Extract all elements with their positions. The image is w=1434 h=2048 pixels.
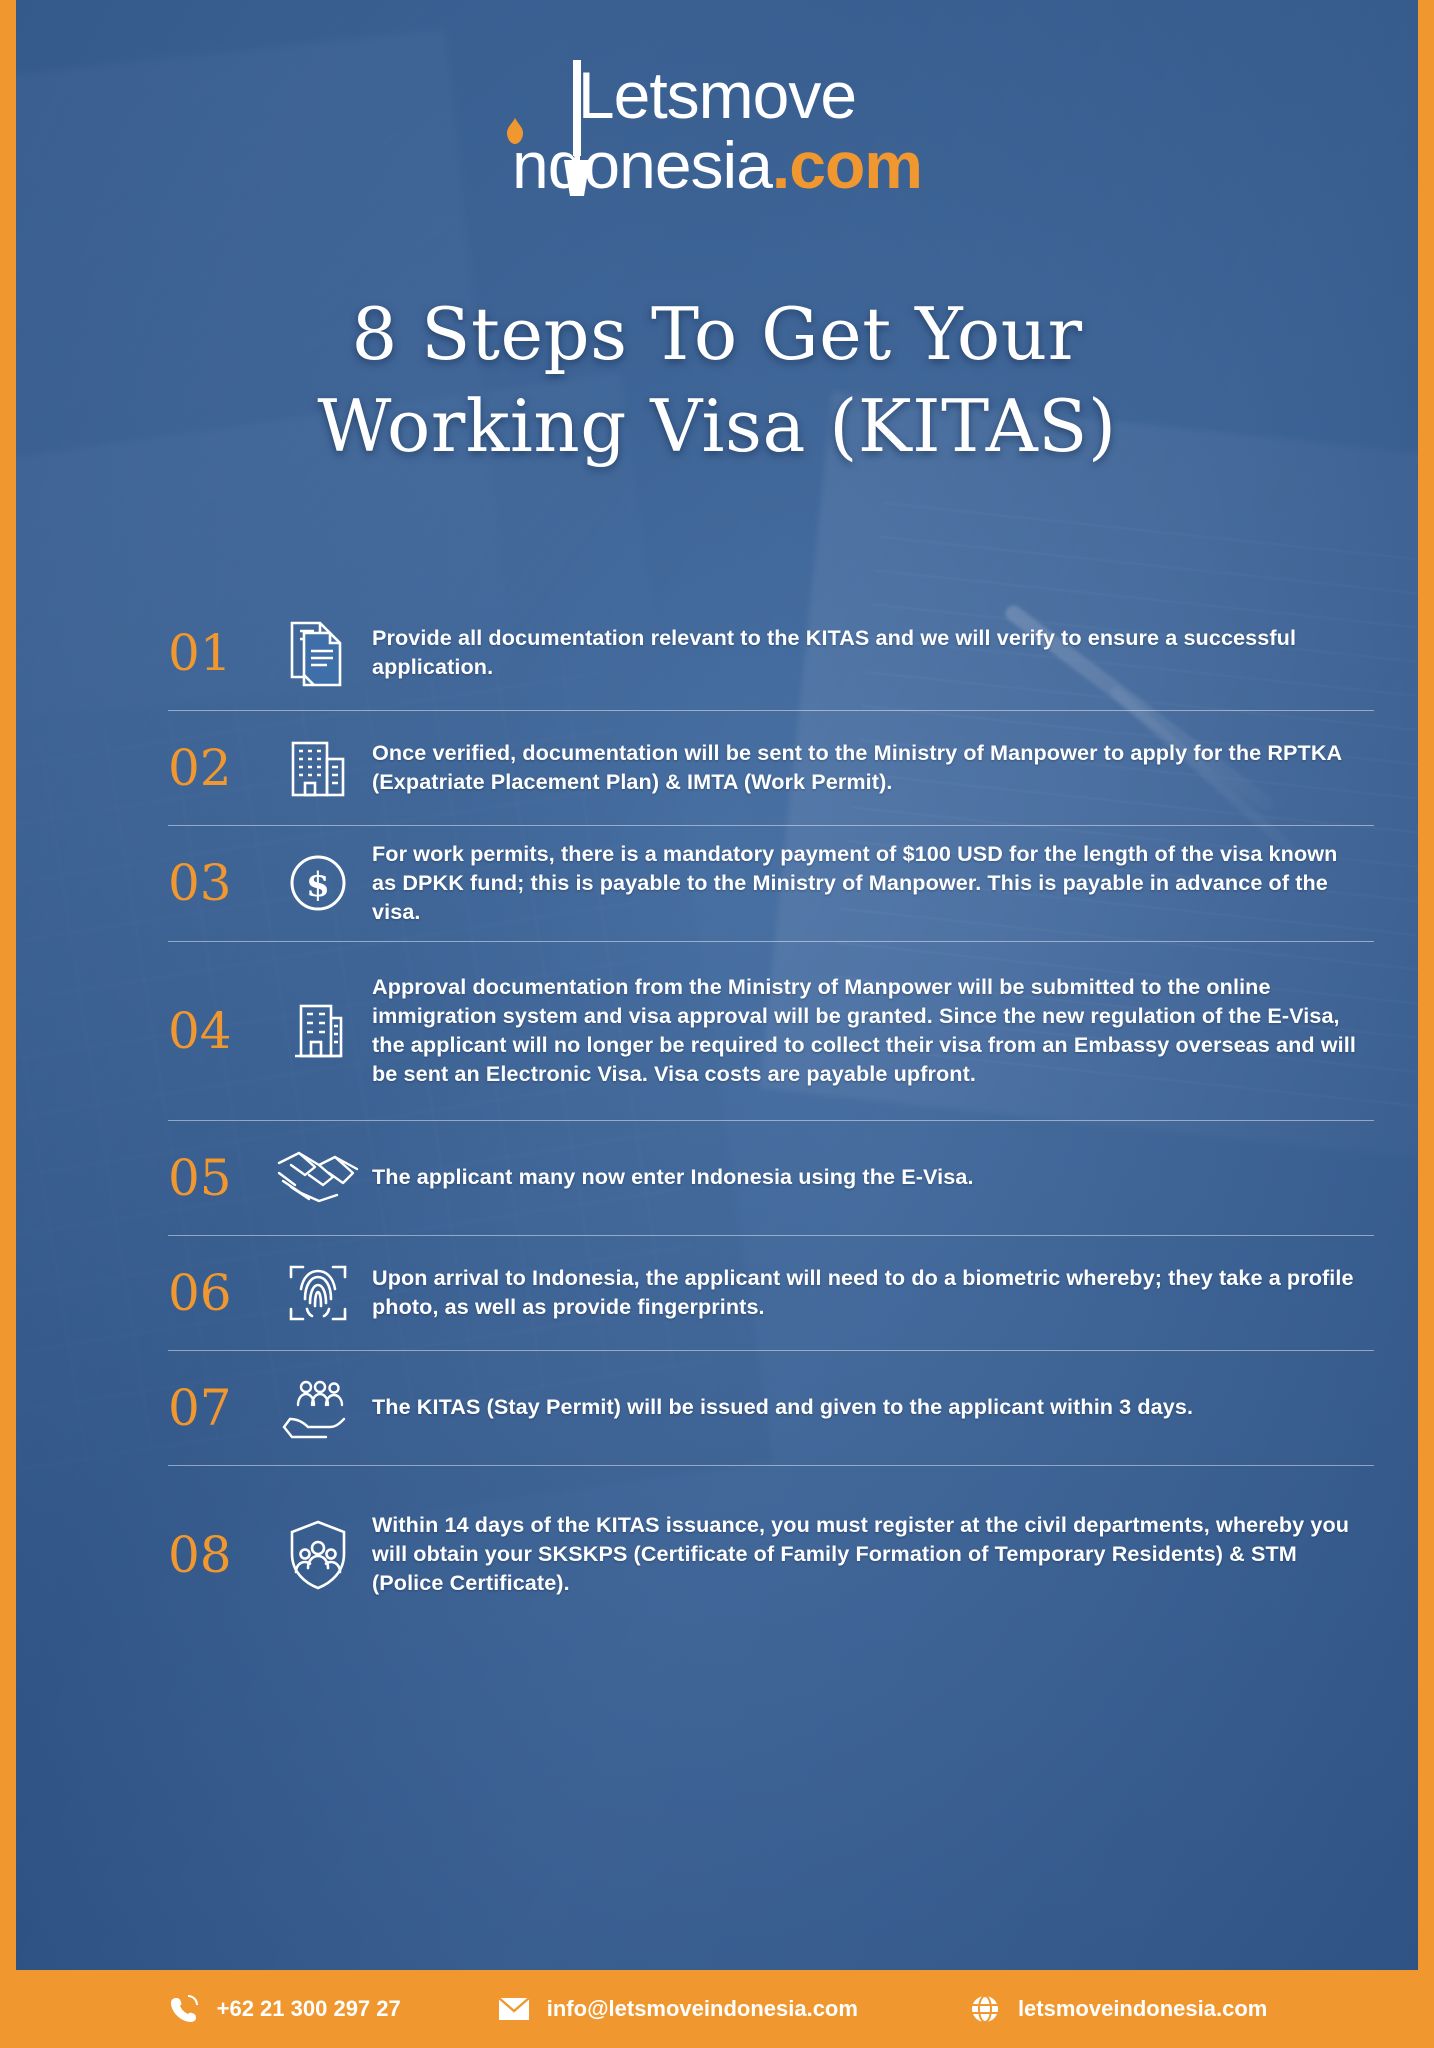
- footer-phone-text: +62 21 300 297 27: [217, 1996, 401, 2022]
- brand-logo: Letsmove ndonesia.com: [0, 62, 1434, 198]
- footer-email-text: info@letsmoveindonesia.com: [547, 1996, 858, 2022]
- svg-text:$: $: [306, 865, 330, 905]
- logo-text-letsmove: Letsmove: [578, 58, 856, 132]
- step-number: 04: [168, 1006, 264, 1056]
- footer-phone[interactable]: +62 21 300 297 27: [167, 1992, 401, 2026]
- step-item-08: 08 Within 14 days of the KITAS issuance,…: [168, 1466, 1374, 1644]
- step-number: 05: [168, 1153, 264, 1203]
- government-building-icon: [264, 996, 372, 1066]
- phone-icon: [167, 1992, 201, 2026]
- step-text: For work permits, there is a mandatory p…: [372, 840, 1374, 927]
- documents-icon: [264, 617, 372, 689]
- page-title-line1: 8 Steps To Get Your: [351, 292, 1082, 376]
- step-item-03: 03 $ For work permits, there is a mandat…: [168, 826, 1374, 942]
- step-text: Upon arrival to Indonesia, the applicant…: [372, 1264, 1374, 1322]
- fingerprint-scan-icon: [264, 1259, 372, 1327]
- logo-text-indonesia: ndonesia: [512, 128, 772, 202]
- step-number: 07: [168, 1383, 264, 1433]
- page-title-line2: Working Visa (KITAS): [0, 380, 1434, 472]
- footer-email[interactable]: info@letsmoveindonesia.com: [497, 1992, 858, 2026]
- step-item-01: 01 Provide all documentatio: [168, 596, 1374, 711]
- footer-contact-bar: +62 21 300 297 27 info@letsmoveindonesia…: [0, 1970, 1434, 2048]
- step-item-05: 05 The applicant many now enter Indonesi…: [168, 1121, 1374, 1236]
- page-title: 8 Steps To Get Your Working Visa (KITAS): [0, 288, 1434, 472]
- step-text: Provide all documentation relevant to th…: [372, 624, 1374, 682]
- step-text: The applicant many now enter Indonesia u…: [372, 1163, 1374, 1192]
- step-text: The KITAS (Stay Permit) will be issued a…: [372, 1393, 1374, 1422]
- step-number: 03: [168, 858, 264, 908]
- globe-icon: [968, 1992, 1002, 2026]
- logo-text-dot: .: [772, 128, 789, 202]
- steps-list: 01 Provide all documentatio: [168, 596, 1374, 1644]
- office-building-icon: [264, 735, 372, 801]
- step-number: 06: [168, 1268, 264, 1318]
- step-item-04: 04 Approval documentation from the Minis…: [168, 942, 1374, 1121]
- dollar-coin-icon: $: [264, 851, 372, 915]
- step-text: Once verified, documentation will be sen…: [372, 739, 1374, 797]
- logo-flame-icon: [504, 118, 526, 144]
- step-number: 01: [168, 628, 264, 678]
- step-text: Within 14 days of the KITAS issuance, yo…: [372, 1511, 1374, 1598]
- footer-website-text: letsmoveindonesia.com: [1018, 1996, 1267, 2022]
- step-text: Approval documentation from the Ministry…: [372, 973, 1374, 1089]
- step-number: 02: [168, 743, 264, 793]
- envelope-icon: [497, 1992, 531, 2026]
- people-in-hand-icon: [264, 1375, 372, 1441]
- step-item-07: 07 The KITAS (Stay Permit) will be i: [168, 1351, 1374, 1466]
- step-number: 08: [168, 1530, 264, 1580]
- step-item-02: 02 Once verified, documentation will be …: [168, 711, 1374, 826]
- footer-website[interactable]: letsmoveindonesia.com: [968, 1992, 1267, 2026]
- step-item-06: 06 Upon arrival to Indonesia, the applic…: [168, 1236, 1374, 1351]
- family-shield-icon: [264, 1518, 372, 1592]
- logo-text-com: com: [789, 128, 922, 202]
- handshake-icon: [264, 1147, 372, 1209]
